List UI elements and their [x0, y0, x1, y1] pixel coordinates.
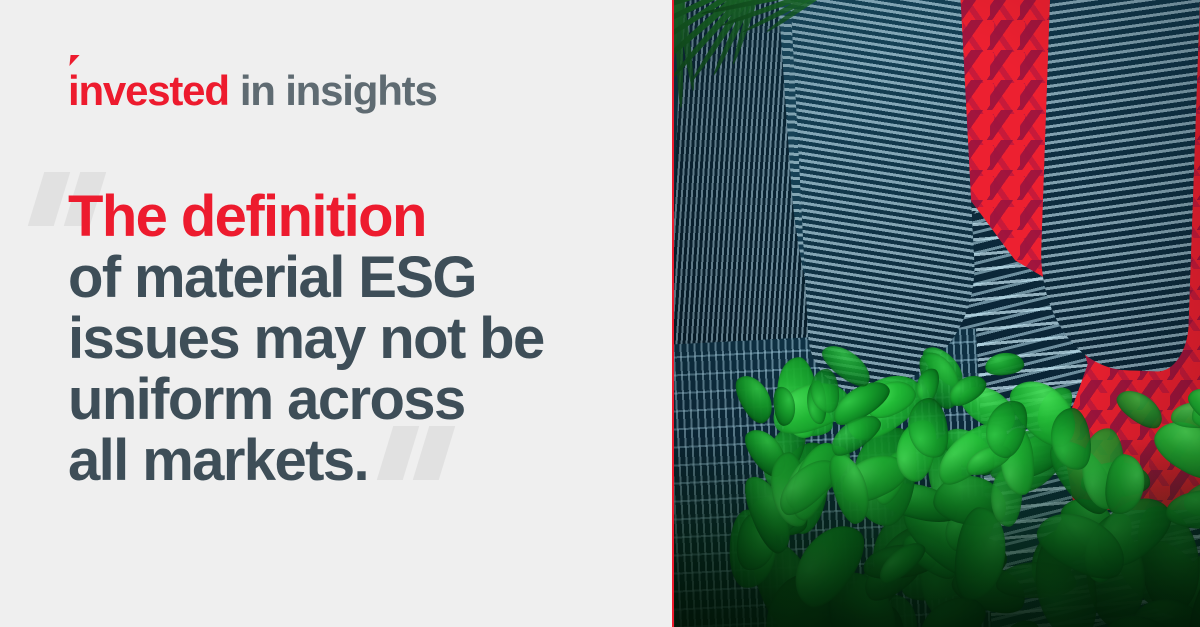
foliage-leaf	[984, 351, 1025, 377]
logo-i-wrapper: invested	[68, 70, 229, 112]
quote-line-3-text: issues may not be	[68, 306, 544, 371]
quote-line-5: all markets.	[68, 430, 648, 491]
foliage-leaf	[1112, 383, 1169, 434]
quote-card: invested in insights The definition of m…	[0, 0, 1200, 627]
foliage-leaf	[729, 369, 779, 428]
closing-quote-mark-icon	[385, 426, 475, 482]
foreground-tower-right	[1037, 0, 1200, 372]
palm-frond-cluster	[672, 0, 914, 312]
logo-tick-accent-icon	[69, 55, 79, 66]
quote-line-4-text: uniform across	[68, 367, 465, 432]
pull-quote: The definition of material ESG issues ma…	[68, 186, 648, 491]
quote-line-3: issues may not be	[68, 308, 648, 369]
quote-line-1: The definition	[68, 186, 648, 247]
quote-line-2-text: of material ESG	[68, 245, 476, 310]
logo-in-insights-text: in insights	[240, 70, 437, 112]
quote-line-2: of material ESG	[68, 247, 648, 308]
left-content-panel: invested in insights The definition of m…	[0, 0, 672, 627]
foliage-leaf	[989, 616, 1048, 627]
brand-logo[interactable]: invested in insights	[68, 70, 437, 112]
quote-line-1-text: The definition	[68, 184, 426, 249]
logo-invested-text: invested	[68, 67, 229, 114]
quote-line-4: uniform across	[68, 369, 648, 430]
hero-photo-panel	[672, 0, 1200, 627]
foliage-shrub	[734, 351, 1200, 627]
quote-line-5-text: all markets.	[68, 428, 368, 493]
